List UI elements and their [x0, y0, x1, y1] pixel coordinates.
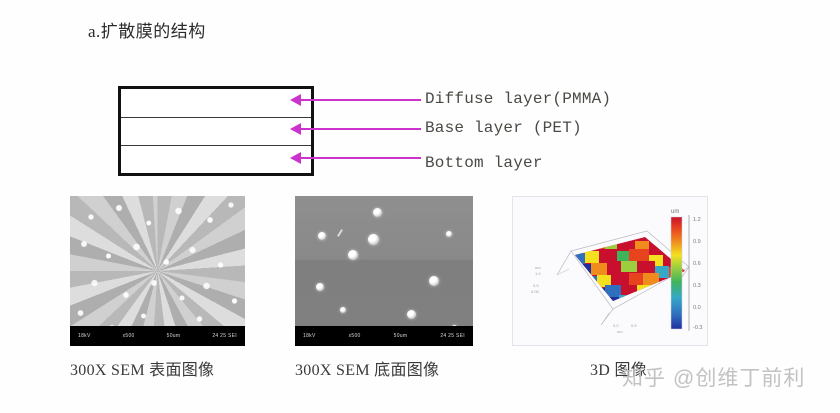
sem-surface-micrograph: 18kV x500 50um 24 25 SEI: [70, 196, 245, 346]
particle: [368, 234, 379, 245]
arrow-shaft: [301, 99, 421, 102]
sem-magnification: x500: [349, 333, 361, 339]
arrow-left-icon: [290, 152, 301, 164]
figure-panel-3d-topography: um 1.0 0.5 0.00 0.0 0.5 um 100.0 um: [512, 196, 708, 346]
layer-stack-diagram: [118, 86, 314, 176]
svg-text:0.00: 0.00: [531, 289, 540, 294]
particle: [316, 283, 324, 291]
layer-label-diffuse: Diffuse layer(PMMA): [425, 90, 611, 108]
particle: [340, 307, 346, 313]
svg-text:0.6: 0.6: [693, 261, 701, 267]
sem-scale-value: 50um: [394, 333, 408, 339]
svg-text:um: um: [535, 265, 541, 270]
layer-row-bottom: [121, 145, 311, 173]
svg-text:0.0: 0.0: [693, 305, 701, 311]
slide-canvas: a.扩散膜的结构 Diffuse layer(PMMA) Base layer …: [0, 0, 840, 413]
layer-row-base: [121, 117, 311, 145]
svg-text:0.5: 0.5: [533, 283, 539, 288]
arrow-shaft: [301, 128, 421, 131]
sem-detector-info: 24 25 SEI: [440, 333, 465, 339]
topography-3d-plot: um 1.0 0.5 0.00 0.0 0.5 um 100.0 um: [512, 196, 708, 346]
sem-voltage: 18kV: [303, 333, 316, 339]
arrow-left-icon: [290, 94, 301, 106]
svg-text:um: um: [617, 329, 623, 334]
colorbar-unit-label: um: [671, 209, 679, 215]
sem-magnification: x500: [123, 333, 135, 339]
colorbar-ticks: 1.2 0.9 0.6 0.3 0.0 -0.3: [693, 217, 702, 331]
page-title: a.扩散膜的结构: [88, 17, 206, 42]
svg-text:0.9: 0.9: [693, 239, 701, 245]
layer-row-diffuse: [121, 89, 311, 117]
watermark-handle: @创维丁前利: [673, 367, 805, 390]
sem-bottom-micrograph: 18kV x500 50um 24 25 SEI: [295, 196, 473, 346]
sem-info-bar: 18kV x500 50um 24 25 SEI: [295, 326, 473, 346]
particle: [446, 231, 452, 237]
figure-panel-sem-surface: 18kV x500 50um 24 25 SEI: [70, 196, 245, 346]
sem-info-bar: 18kV x500 50um 24 25 SEI: [70, 326, 245, 346]
svg-text:0.5: 0.5: [631, 323, 637, 328]
svg-text:1.0: 1.0: [535, 271, 541, 276]
svg-text:-0.3: -0.3: [693, 325, 702, 331]
particle: [407, 310, 416, 319]
particle: [429, 276, 439, 286]
figure-caption-sem-bottom: 300X SEM 底面图像: [295, 356, 439, 380]
callout-arrow-base: [290, 122, 421, 136]
zhihu-logo-text: 知乎: [622, 367, 666, 390]
arrow-shaft: [301, 157, 421, 160]
watermark: 知乎@创维丁前利: [622, 362, 805, 392]
layer-label-bottom: Bottom layer: [425, 154, 543, 172]
particle: [373, 208, 382, 217]
figure-panel-sem-bottom: 18kV x500 50um 24 25 SEI: [295, 196, 473, 346]
particle: [318, 232, 326, 240]
callout-arrow-bottom: [290, 151, 421, 165]
layer-label-base: Base layer (PET): [425, 119, 582, 137]
svg-text:0.0: 0.0: [613, 323, 619, 328]
sem-scale-value: 50um: [167, 333, 181, 339]
svg-text:1.2: 1.2: [693, 217, 701, 223]
callout-arrow-diffuse: [290, 93, 421, 107]
sem-detector-info: 24 25 SEI: [212, 333, 237, 339]
topography-surface-svg: um 1.0 0.5 0.00 0.0 0.5 um 100.0 um: [513, 197, 707, 345]
sem-voltage: 18kV: [78, 333, 91, 339]
scratch-mark: [337, 229, 343, 237]
svg-text:0.3: 0.3: [693, 283, 701, 289]
arrow-left-icon: [290, 123, 301, 135]
particle: [348, 250, 358, 260]
figure-caption-sem-surface: 300X SEM 表面图像: [70, 356, 214, 380]
